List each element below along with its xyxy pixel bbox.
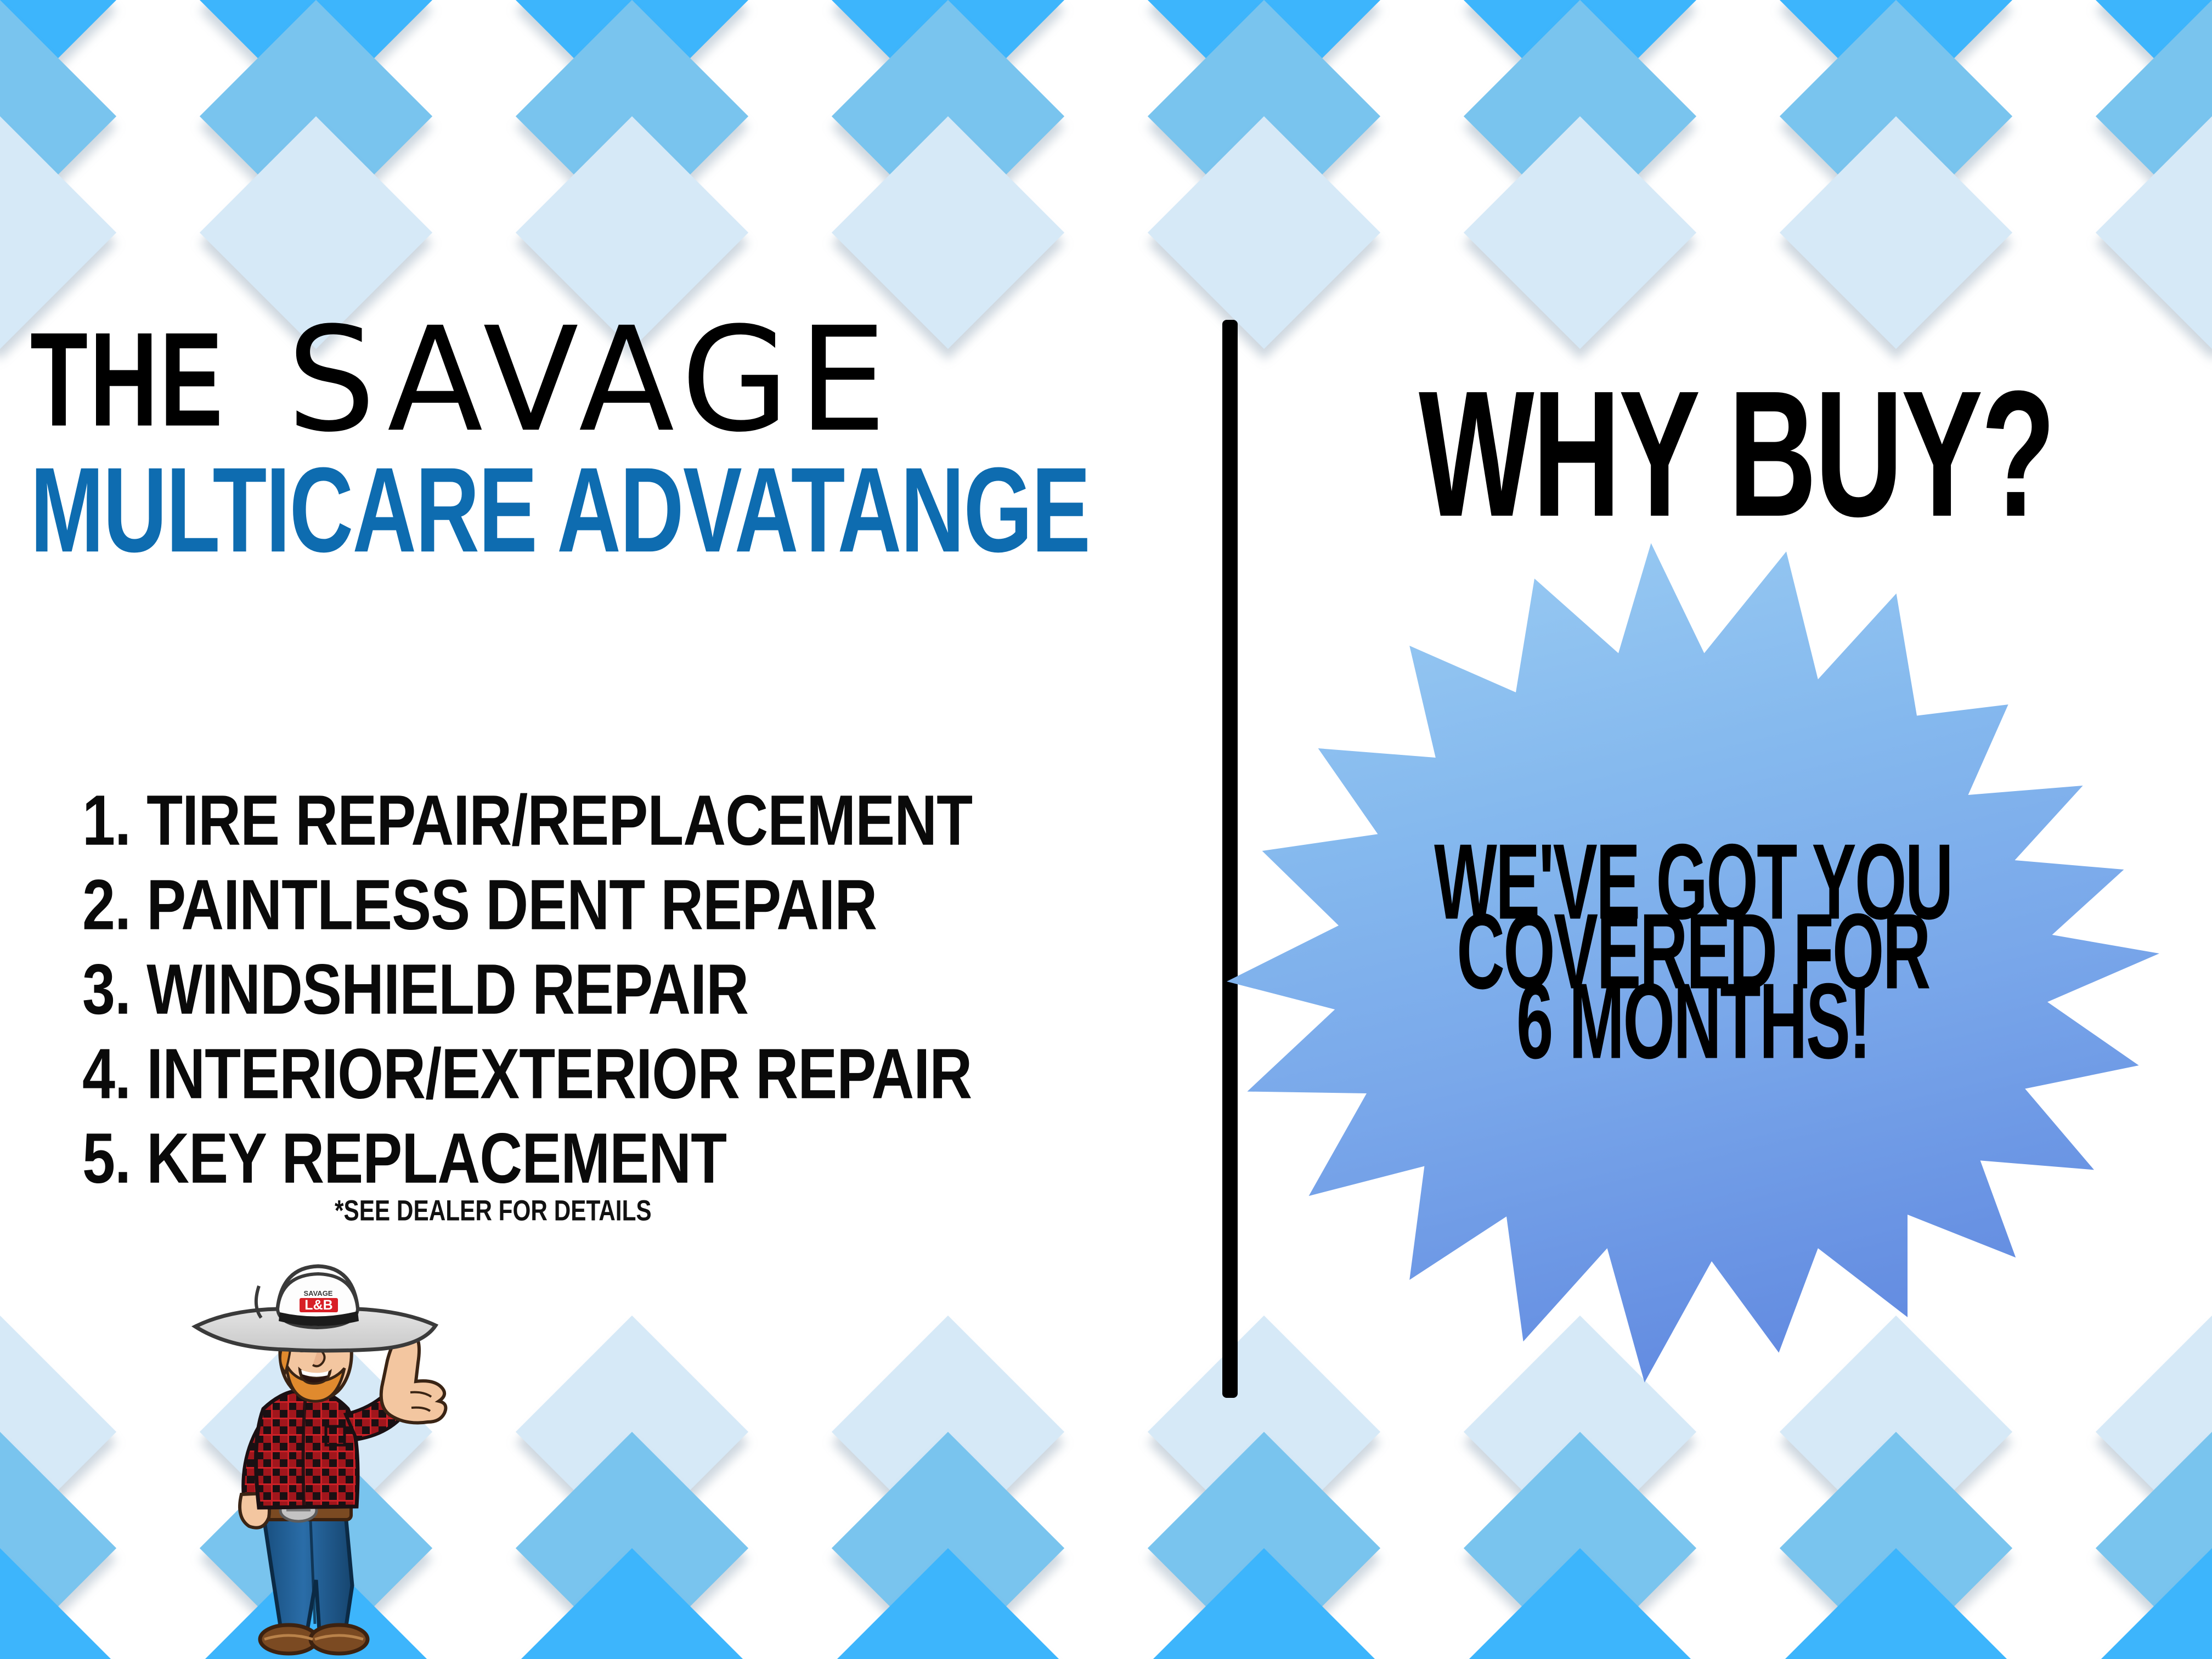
headline-block: THE SAVAGE MULTICARE ADVATANGE (30, 307, 1171, 543)
hat-logo-main-text: L&B (304, 1297, 332, 1313)
list-item: 4. INTERIOR/EXTERIOR REPAIR (82, 1038, 1092, 1109)
starburst-text-block: WE'VE GOT YOU COVERED FOR 6 MONTHS! (1227, 848, 2159, 1057)
burst-line-3: 6 MONTHS! (1283, 972, 2103, 1071)
mascot-jeans (263, 1514, 352, 1630)
mascot-shirt (256, 1390, 358, 1508)
poster-canvas: THE SAVAGE MULTICARE ADVATANGE 1. TIRE R… (0, 0, 2212, 1659)
cowboy-mascot-thumbs-up: SAVAGE L&B (181, 1262, 455, 1659)
right-panel: WHY BUY? WE'VE GOT YOU COVERED FOR 6 MON… (1238, 0, 2212, 1659)
headline-row-primary: THE SAVAGE (30, 307, 1171, 439)
starburst-badge: WE'VE GOT YOU COVERED FOR 6 MONTHS! (1227, 543, 2159, 1383)
mascot-cowboy-hat: SAVAGE L&B (195, 1266, 436, 1351)
mascot-boots (260, 1625, 368, 1654)
headline-brand-savage: SAVAGE (287, 321, 895, 439)
hat-logo-top-text: SAVAGE (304, 1289, 333, 1297)
list-item: 1. TIRE REPAIR/REPLACEMENT (82, 785, 1092, 856)
disclaimer-text: *SEE DEALER FOR DETAILS (335, 1193, 652, 1227)
headline-word-the: THE (30, 321, 224, 439)
page-title: WHY BUY? (1419, 373, 2053, 535)
feature-list: 1. TIRE REPAIR/REPLACEMENT 2. PAINTLESS … (82, 785, 1169, 1207)
list-item: 3. WINDSHIELD REPAIR (82, 953, 1092, 1025)
list-item: 2. PAINTLESS DENT REPAIR (82, 869, 1092, 940)
headline-subline: MULTICARE ADVATANGE (30, 453, 1103, 568)
list-item: 5. KEY REPLACEMENT (82, 1122, 1092, 1194)
cowboy-mascot-illustration: SAVAGE L&B (181, 1262, 455, 1659)
